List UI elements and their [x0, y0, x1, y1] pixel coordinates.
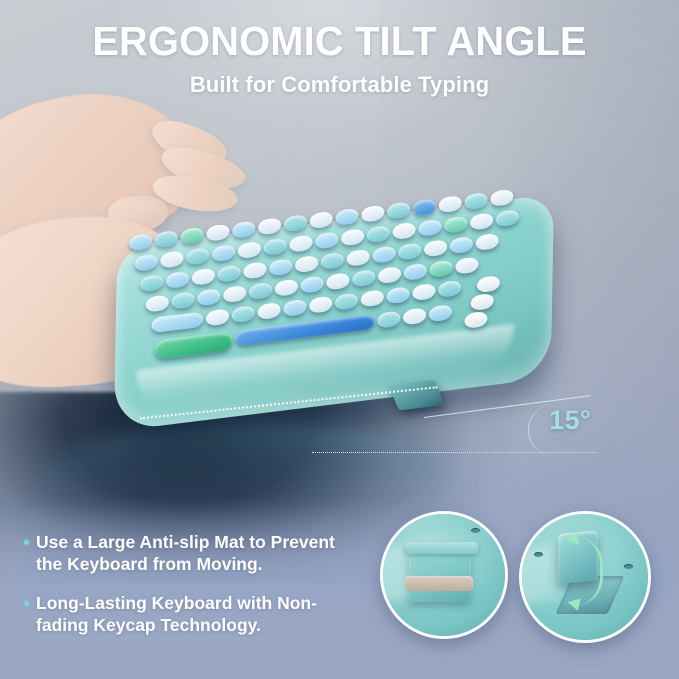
keycap: [393, 222, 416, 240]
keycap: [197, 288, 220, 306]
keycap: [258, 302, 281, 320]
list-item: Use a Large Anti-slip Mat to Prevent the…: [24, 531, 354, 575]
keycap: [326, 272, 349, 290]
keycap: [295, 255, 318, 273]
keycap: [404, 263, 427, 281]
keycap: [192, 268, 215, 286]
anti-slip-pad: [405, 576, 473, 591]
feature-text: Long-Lasting Keyboard with Non-fading Ke…: [36, 592, 354, 636]
keycap: [206, 308, 229, 326]
keycap: [444, 216, 467, 234]
keycap: [243, 261, 266, 279]
keycap-arrow-up: [477, 275, 500, 293]
keycap: [301, 276, 324, 294]
keycap: [377, 311, 400, 329]
keycap: [181, 227, 204, 245]
keycap: [464, 192, 487, 210]
keycap: [403, 307, 426, 325]
bullet-dot-icon: [24, 601, 29, 606]
keycap: [490, 189, 513, 207]
keycap: [438, 280, 461, 298]
keycap: [310, 211, 333, 229]
keycap: [341, 228, 364, 246]
bullet-dot-icon: [24, 540, 29, 545]
keycap: [321, 252, 344, 270]
keycap: [283, 299, 306, 317]
keycap: [387, 286, 410, 304]
keycap: [335, 208, 358, 226]
keycap: [387, 202, 410, 220]
keycap: [206, 224, 229, 242]
keycap: [238, 241, 261, 259]
keycap: [275, 279, 298, 297]
feature-list: Use a Large Anti-slip Mat to Prevent the…: [24, 531, 354, 653]
keycap: [470, 213, 493, 231]
keycap: [367, 225, 390, 243]
feature-text: Use a Large Anti-slip Mat to Prevent the…: [36, 531, 354, 575]
product-marketing-image: ERGONOMIC TILT ANGLE Built for Comfortab…: [0, 0, 679, 679]
keycap: [496, 209, 519, 227]
keyboard-tilt-foot: [389, 380, 445, 411]
keycap: [129, 233, 152, 251]
keycap: [140, 274, 163, 292]
inset-raised-stand: [519, 511, 651, 643]
inset-folded-stand: [380, 511, 508, 639]
keycap: [455, 257, 478, 275]
keycap: [429, 304, 452, 322]
keycap: [264, 238, 287, 256]
keycap: [172, 291, 195, 309]
keycap-arrow-down: [464, 311, 487, 329]
keycap: [223, 285, 246, 303]
keycap-ctrl: [155, 331, 233, 360]
keycap: [289, 235, 312, 253]
keycap: [315, 232, 338, 250]
keycap: [309, 296, 332, 314]
keycap-row-arrows: [464, 311, 487, 329]
keycap: [476, 233, 499, 251]
angle-label: 15°: [549, 405, 591, 436]
keycap: [232, 305, 255, 323]
keycap: [232, 221, 255, 239]
keycap-row-arrows: [471, 293, 494, 311]
keycap: [372, 246, 395, 264]
keycap: [424, 239, 447, 257]
keycap: [146, 295, 169, 313]
screw-hole: [471, 528, 480, 533]
keycap: [361, 289, 384, 307]
stand-hinge-bar: [404, 542, 478, 554]
keycap: [398, 242, 421, 260]
screw-hole: [624, 564, 633, 569]
keycap: [155, 230, 178, 248]
list-item: Long-Lasting Keyboard with Non-fading Ke…: [24, 592, 354, 636]
screw-hole: [534, 552, 543, 557]
keycap: [439, 195, 462, 213]
keycap: [413, 198, 436, 216]
keycap-arrow-left: [471, 293, 494, 311]
keycap: [186, 247, 209, 265]
keycap: [212, 244, 235, 262]
keycap-shift: [151, 312, 203, 333]
keycap: [347, 249, 370, 267]
keycap: [361, 205, 384, 223]
keycap: [418, 219, 441, 237]
keycap: [166, 271, 189, 289]
keycap: [218, 265, 241, 283]
keycap-row-arrows: [477, 275, 500, 293]
keycap: [352, 269, 375, 287]
keycap: [269, 258, 292, 276]
keycap: [160, 251, 183, 269]
keycap: [284, 214, 307, 232]
keycap: [412, 283, 435, 301]
keycap: [258, 217, 281, 235]
keycap: [135, 254, 158, 272]
keycap: [249, 282, 272, 300]
keycap: [430, 260, 453, 278]
keycap: [450, 236, 473, 254]
keycap: [378, 266, 401, 284]
keycap: [335, 293, 358, 311]
